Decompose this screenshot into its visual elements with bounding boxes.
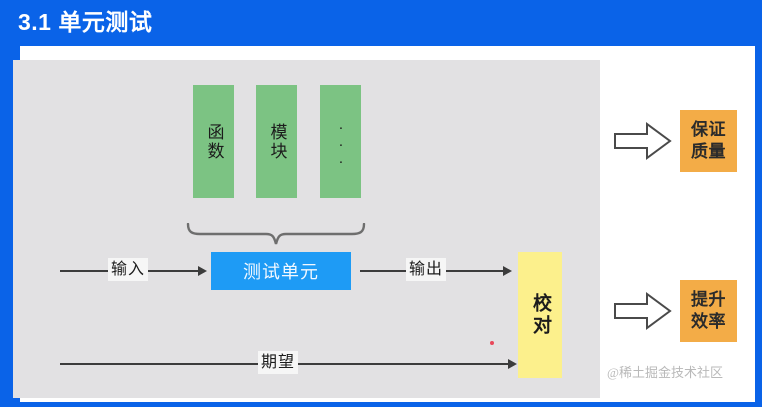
expectation-flow-label: 期望 xyxy=(258,351,298,374)
source-box-ellipsis-label: ... xyxy=(331,116,351,167)
page-title: 3.1 单元测试 xyxy=(18,7,152,38)
benefit-box-quality: 保证质量 xyxy=(680,110,737,172)
benefit-box-efficiency: 提升效率 xyxy=(680,280,737,342)
test-unit-box: 测试单元 xyxy=(211,252,351,290)
test-unit-label: 测试单元 xyxy=(243,258,319,284)
group-brace xyxy=(186,223,366,245)
frame-accent-right xyxy=(755,46,762,407)
verify-box: 校对 xyxy=(518,252,562,378)
input-flow-label: 输入 xyxy=(108,258,148,281)
red-marker-dot xyxy=(490,341,494,345)
output-flow-label: 输出 xyxy=(406,258,446,281)
output-arrow-icon xyxy=(503,266,512,276)
source-box-ellipsis: ... xyxy=(320,85,361,198)
source-box-module: 模块 xyxy=(256,85,297,198)
benefit-box-efficiency-label: 提升效率 xyxy=(689,289,729,333)
source-box-function: 函数 xyxy=(193,85,234,198)
watermark: @稀土掘金技术社区 xyxy=(607,362,723,381)
input-arrow-icon xyxy=(198,266,207,276)
source-box-function-label: 函数 xyxy=(204,123,224,161)
benefit-box-quality-label: 保证质量 xyxy=(689,119,729,163)
hollow-arrow-right-icon xyxy=(614,122,672,165)
hollow-arrow-right-icon xyxy=(614,292,672,335)
expectation-arrow-icon xyxy=(508,359,517,369)
source-box-module-label: 模块 xyxy=(267,123,287,161)
slide-root: 3.1 单元测试 函数 模块 ... 测试单元 校对 输入 输出 期望 xyxy=(0,0,762,407)
verify-box-label: 校对 xyxy=(529,293,551,337)
